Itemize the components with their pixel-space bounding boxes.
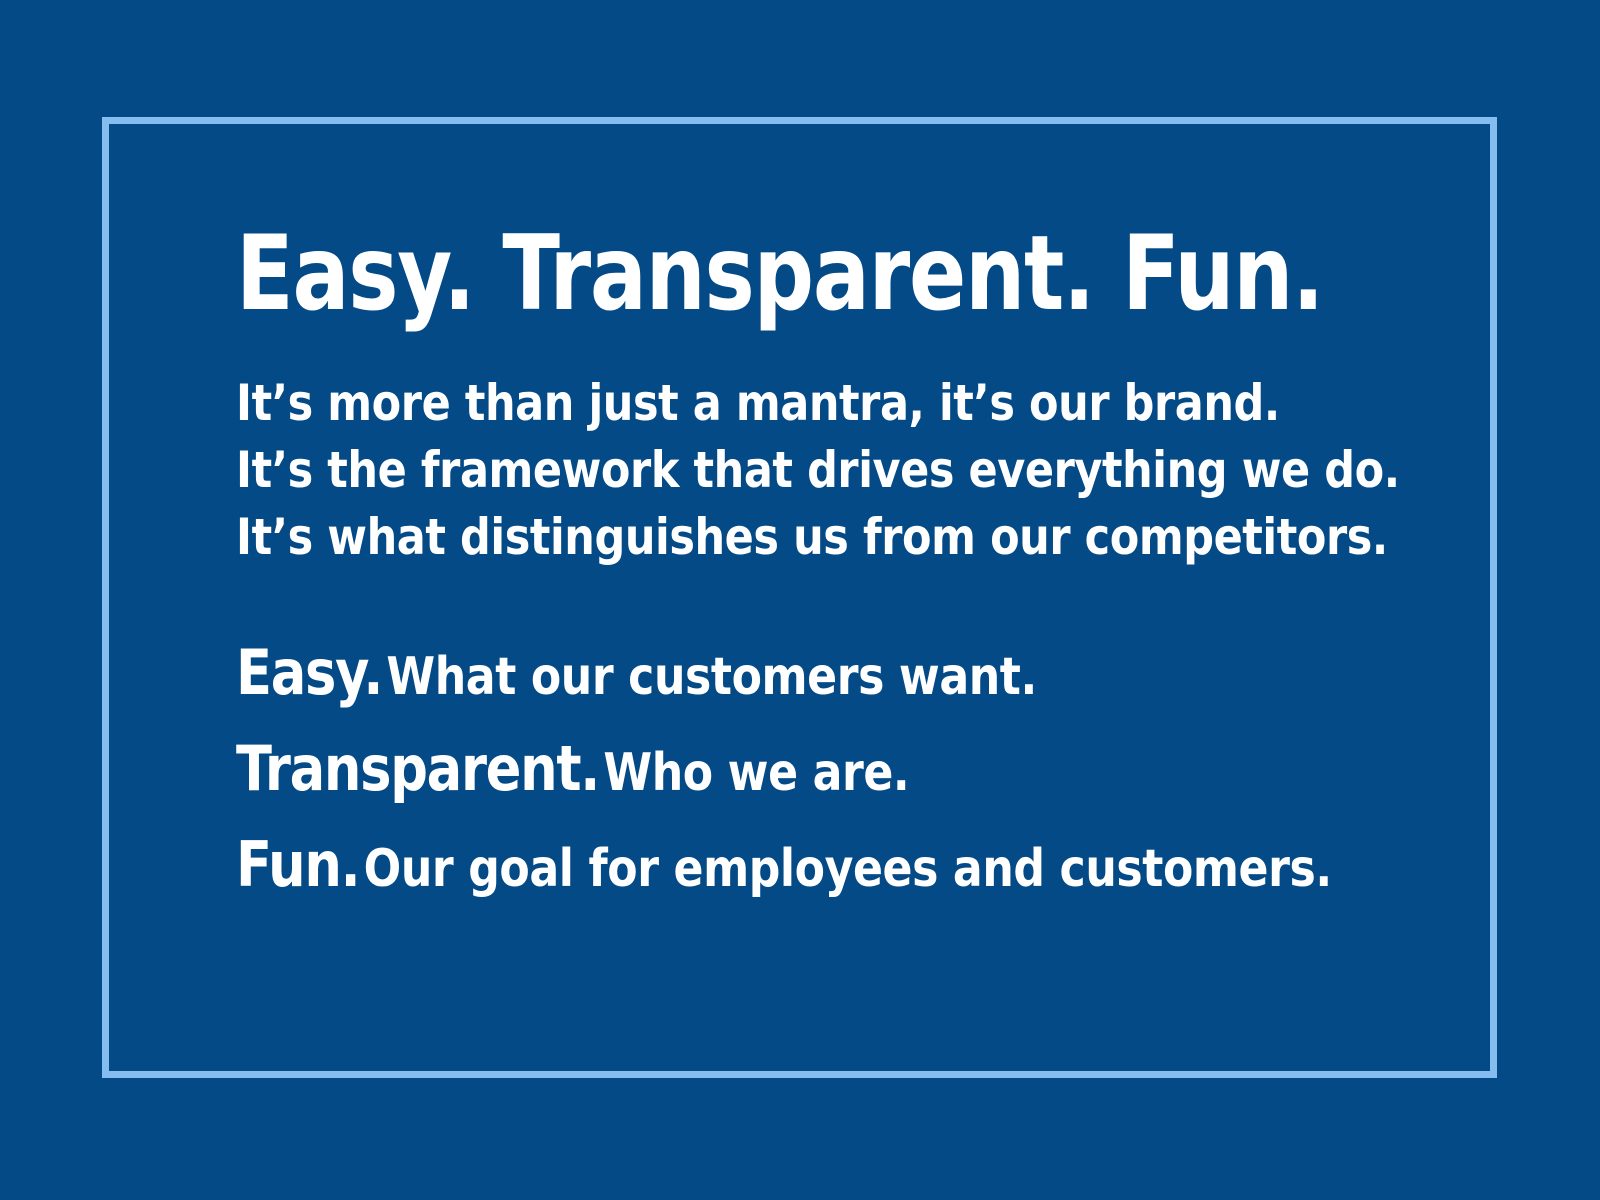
- definition-description: Who we are.: [603, 743, 909, 803]
- intro-line: It’s more than just a mantra, it’s our b…: [236, 370, 1268, 437]
- definition-list: Easy. What our customers want. Transpare…: [236, 633, 1436, 921]
- definition-item-fun: Fun. Our goal for employees and customer…: [236, 825, 1256, 921]
- brand-mantra-slide: Easy. Transparent. Fun. It’s more than j…: [0, 0, 1600, 1200]
- intro-line: It’s what distinguishes us from our comp…: [236, 504, 1268, 571]
- definition-description: Our goal for employees and customers.: [364, 839, 1332, 899]
- definition-item-easy: Easy. What our customers want.: [236, 633, 1256, 729]
- definition-term: Transparent.: [236, 732, 599, 805]
- definition-term: Easy.: [236, 636, 382, 709]
- definition-item-transparent: Transparent. Who we are.: [236, 729, 1256, 825]
- page-title: Easy. Transparent. Fun.: [236, 220, 1220, 328]
- intro-paragraph: It’s more than just a mantra, it’s our b…: [236, 370, 1436, 571]
- intro-line: It’s the framework that drives everythin…: [236, 437, 1268, 504]
- definition-description: What our customers want.: [386, 647, 1036, 707]
- definition-term: Fun.: [236, 828, 359, 901]
- slide-content: Easy. Transparent. Fun. It’s more than j…: [236, 220, 1436, 921]
